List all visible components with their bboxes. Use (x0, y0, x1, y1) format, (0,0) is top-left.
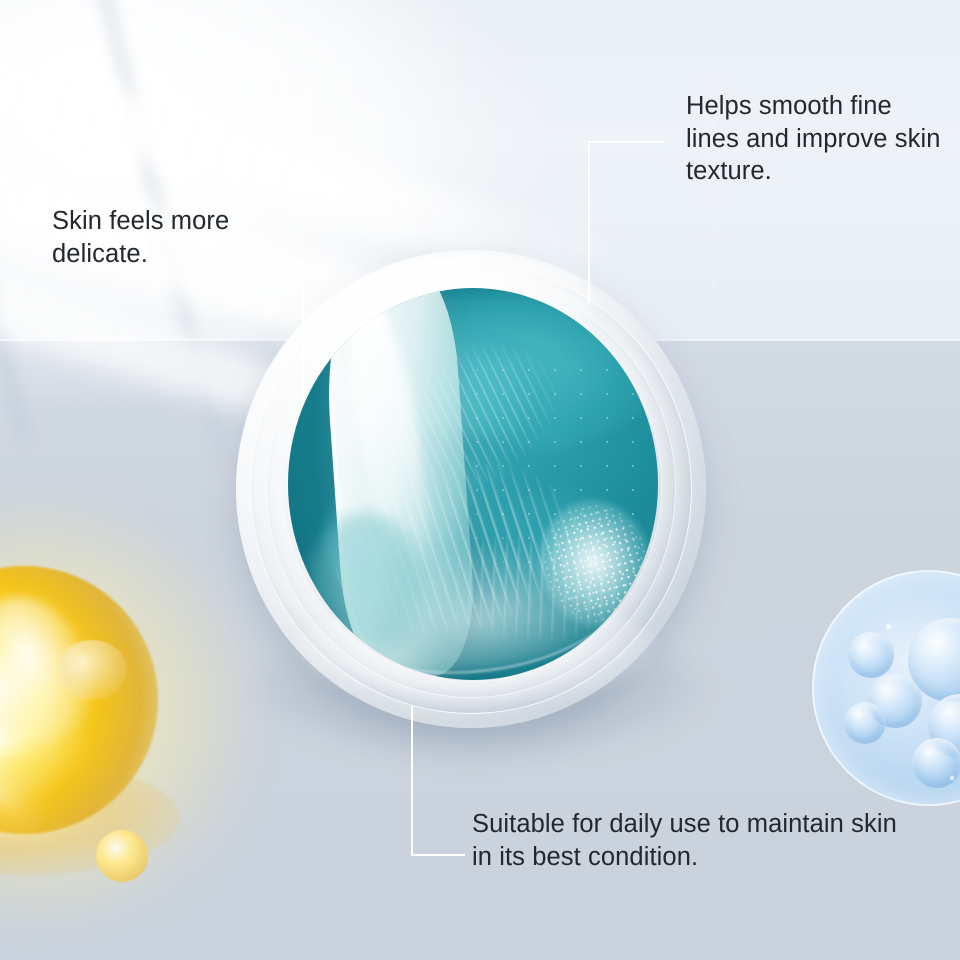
leader-line (232, 260, 306, 402)
water-bubble (848, 632, 894, 678)
leader-segment-horizontal (411, 854, 465, 856)
water-bubble (912, 738, 960, 788)
water-bubble (844, 702, 886, 744)
oil-droplet-gold (0, 548, 212, 878)
callout-text-daily-use: Suitable for daily use to maintain skin … (472, 808, 897, 873)
window-frame-line (210, 0, 212, 352)
product-jar (236, 240, 710, 736)
leader-line (411, 706, 467, 858)
leader-segment-vertical (588, 141, 590, 305)
leader-segment-horizontal (588, 141, 664, 143)
leader-segment-vertical (411, 706, 413, 856)
bubble-sparkle (886, 624, 891, 629)
oil-small-droplet (96, 830, 148, 882)
callout-text-smooth-fine-lines: Helps smooth fine lines and improve skin… (686, 90, 941, 188)
leader-segment-horizontal (232, 260, 304, 262)
callout-text-skin-delicate: Skin feels more delicate. (52, 205, 229, 270)
leader-line (588, 141, 666, 307)
bubble-sparkle (950, 776, 954, 780)
jar-gel-well (288, 288, 658, 680)
oil-small-droplet (57, 640, 127, 700)
product-infographic: Skin feels more delicate. Helps smooth f… (0, 0, 960, 960)
leader-segment-vertical (302, 260, 304, 400)
water-bubble-cluster-blue (812, 570, 960, 820)
